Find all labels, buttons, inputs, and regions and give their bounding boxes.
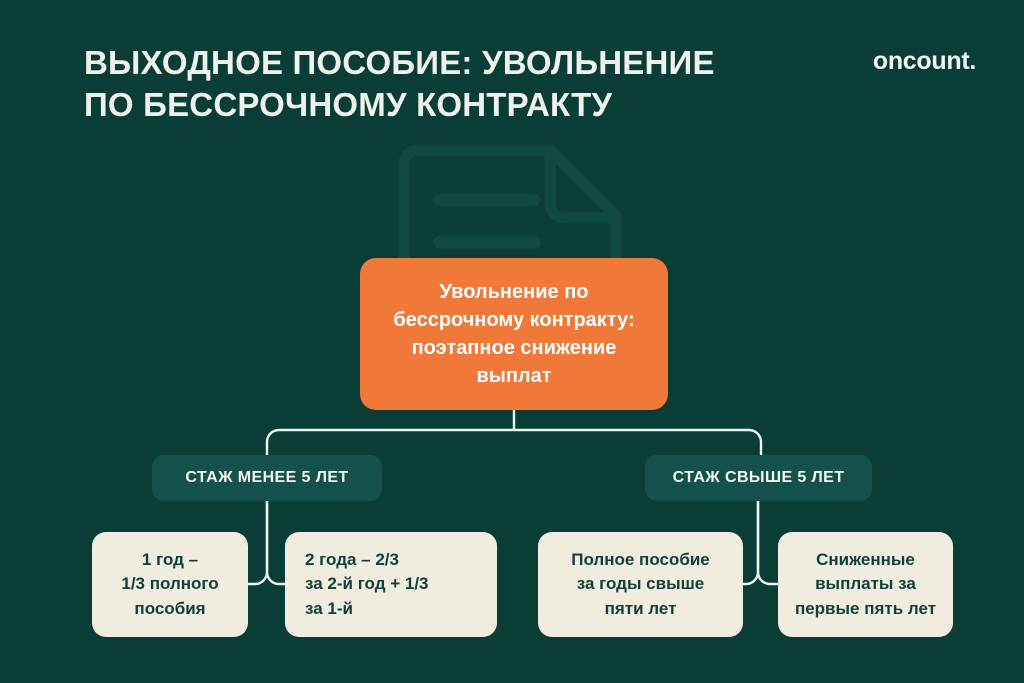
leaf-card-3: Полное пособие за годы свыше пяти лет [538, 532, 743, 637]
branch-pill-tenure-under-5: СТАЖ МЕНЕЕ 5 ЛЕТ [152, 455, 382, 501]
connector-right-fork-b [758, 501, 778, 584]
diagram-root-node: Увольнение по бессрочному контракту: поэ… [360, 258, 668, 410]
leaf-card-1: 1 год – 1/3 полного пособия [92, 532, 248, 637]
diagram-root-label: Увольнение по бессрочному контракту: поэ… [374, 278, 654, 390]
connector-left-fork-a [248, 501, 267, 584]
connector-right-fork-a [742, 501, 758, 584]
connector-root-bus [267, 430, 761, 455]
connector-left-fork-b [267, 501, 286, 584]
leaf-card-2: 2 года – 2/3 за 2-й год + 1/3 за 1-й [285, 532, 497, 637]
leaf-card-4: Сниженные выплаты за первые пять лет [778, 532, 953, 637]
branch-pill-tenure-over-5: СТАЖ СВЫШЕ 5 ЛЕТ [645, 455, 872, 501]
infographic-canvas: ВЫХОДНОЕ ПОСОБИЕ: УВОЛЬНЕНИЕ ПО БЕССРОЧН… [0, 0, 1024, 683]
